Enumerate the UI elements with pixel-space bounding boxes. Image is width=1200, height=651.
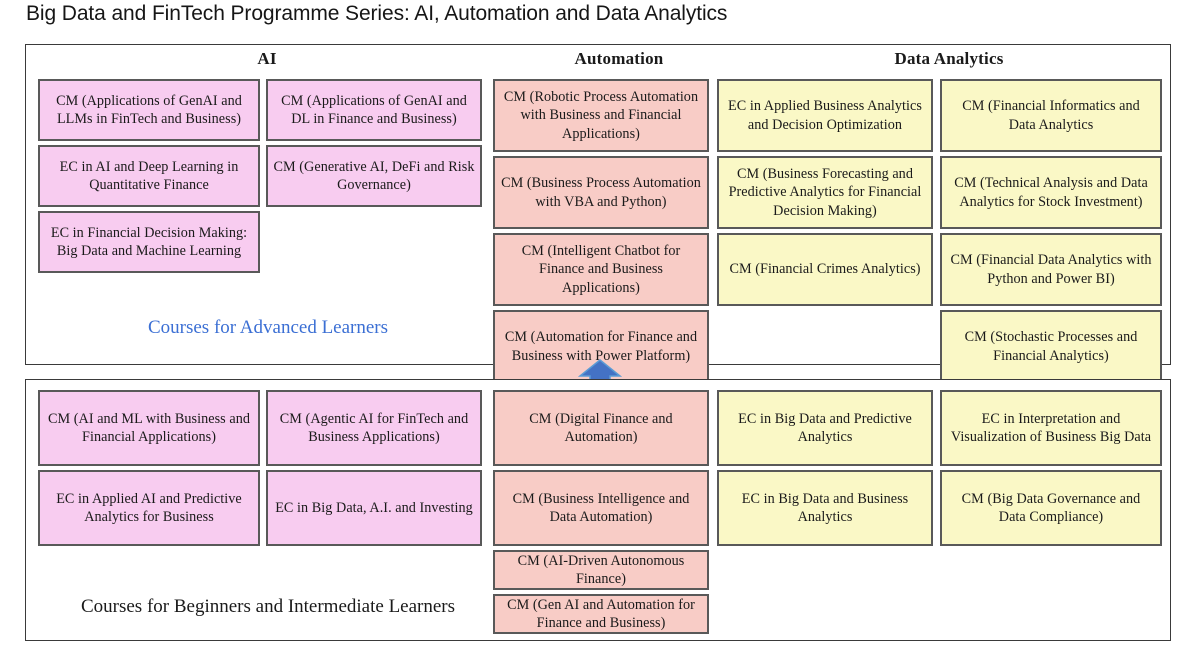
course-cell[interactable]: EC in Applied AI and Predictive Analytic… (38, 470, 260, 546)
advanced-ai-column-1: CM (Applications of GenAI and LLMs in Fi… (38, 79, 260, 273)
course-cell[interactable]: CM (Gen AI and Automation for Finance an… (493, 594, 709, 634)
course-cell[interactable]: CM (Technical Analysis and Data Analytic… (940, 156, 1162, 229)
beginner-learners-table: CM (AI and ML with Business and Financia… (25, 379, 1171, 641)
course-cell[interactable]: CM (Agentic AI for FinTech and Business … (266, 390, 482, 466)
course-cell[interactable]: CM (Intelligent Chatbot for Finance and … (493, 233, 709, 306)
course-cell[interactable]: CM (Digital Finance and Automation) (493, 390, 709, 466)
course-cell[interactable]: EC in Interpretation and Visualization o… (940, 390, 1162, 466)
advanced-automation-column: CM (Robotic Process Automation with Busi… (493, 79, 709, 383)
beginner-ai-column-1: CM (AI and ML with Business and Financia… (38, 390, 260, 546)
programme-diagram: Big Data and FinTech Programme Series: A… (0, 0, 1200, 651)
course-cell[interactable]: CM (Business Intelligence and Data Autom… (493, 470, 709, 546)
course-cell[interactable]: CM (Financial Informatics and Data Analy… (940, 79, 1162, 152)
course-cell[interactable]: CM (Big Data Governance and Data Complia… (940, 470, 1162, 546)
beginner-data-analytics-column-1: EC in Big Data and Predictive Analytics … (717, 390, 933, 546)
column-header-automation: Automation (508, 49, 730, 69)
advanced-learners-table: AI Automation Data Analytics CM (Applica… (25, 44, 1171, 365)
beginner-data-analytics-column-2: EC in Interpretation and Visualization o… (940, 390, 1162, 546)
course-cell[interactable]: EC in Big Data and Business Analytics (717, 470, 933, 546)
beginner-learners-caption: Courses for Beginners and Intermediate L… (38, 596, 498, 618)
course-cell[interactable]: CM (Business Forecasting and Predictive … (717, 156, 933, 229)
course-cell[interactable]: EC in Financial Decision Making: Big Dat… (38, 211, 260, 273)
course-cell[interactable]: CM (Robotic Process Automation with Busi… (493, 79, 709, 152)
advanced-learners-caption: Courses for Advanced Learners (38, 317, 498, 339)
advanced-data-analytics-column-2: CM (Financial Informatics and Data Analy… (940, 79, 1162, 383)
column-header-ai: AI (34, 49, 500, 69)
course-cell[interactable]: CM (Financial Data Analytics with Python… (940, 233, 1162, 306)
course-cell[interactable]: EC in Applied Business Analytics and Dec… (717, 79, 933, 152)
page-title: Big Data and FinTech Programme Series: A… (26, 2, 727, 26)
course-cell[interactable]: EC in Big Data and Predictive Analytics (717, 390, 933, 466)
advanced-data-analytics-column-1: EC in Applied Business Analytics and Dec… (717, 79, 933, 306)
beginner-ai-column-2: CM (Agentic AI for FinTech and Business … (266, 390, 482, 546)
course-cell[interactable]: CM (AI-Driven Autonomous Finance) (493, 550, 709, 590)
course-cell[interactable]: CM (Applications of GenAI and LLMs in Fi… (38, 79, 260, 141)
column-header-data-analytics: Data Analytics (732, 49, 1166, 69)
advanced-ai-column-2: CM (Applications of GenAI and DL in Fina… (266, 79, 482, 207)
course-cell[interactable]: CM (Business Process Automation with VBA… (493, 156, 709, 229)
course-cell[interactable]: EC in AI and Deep Learning in Quantitati… (38, 145, 260, 207)
course-cell[interactable]: CM (Financial Crimes Analytics) (717, 233, 933, 306)
course-cell[interactable]: EC in Big Data, A.I. and Investing (266, 470, 482, 546)
course-cell[interactable]: CM (Stochastic Processes and Financial A… (940, 310, 1162, 383)
course-cell[interactable]: CM (Generative AI, DeFi and Risk Governa… (266, 145, 482, 207)
advanced-header-row: AI Automation Data Analytics (26, 45, 1170, 77)
course-cell[interactable]: CM (AI and ML with Business and Financia… (38, 390, 260, 466)
course-cell[interactable]: CM (Applications of GenAI and DL in Fina… (266, 79, 482, 141)
beginner-automation-column: CM (Digital Finance and Automation) CM (… (493, 390, 709, 634)
